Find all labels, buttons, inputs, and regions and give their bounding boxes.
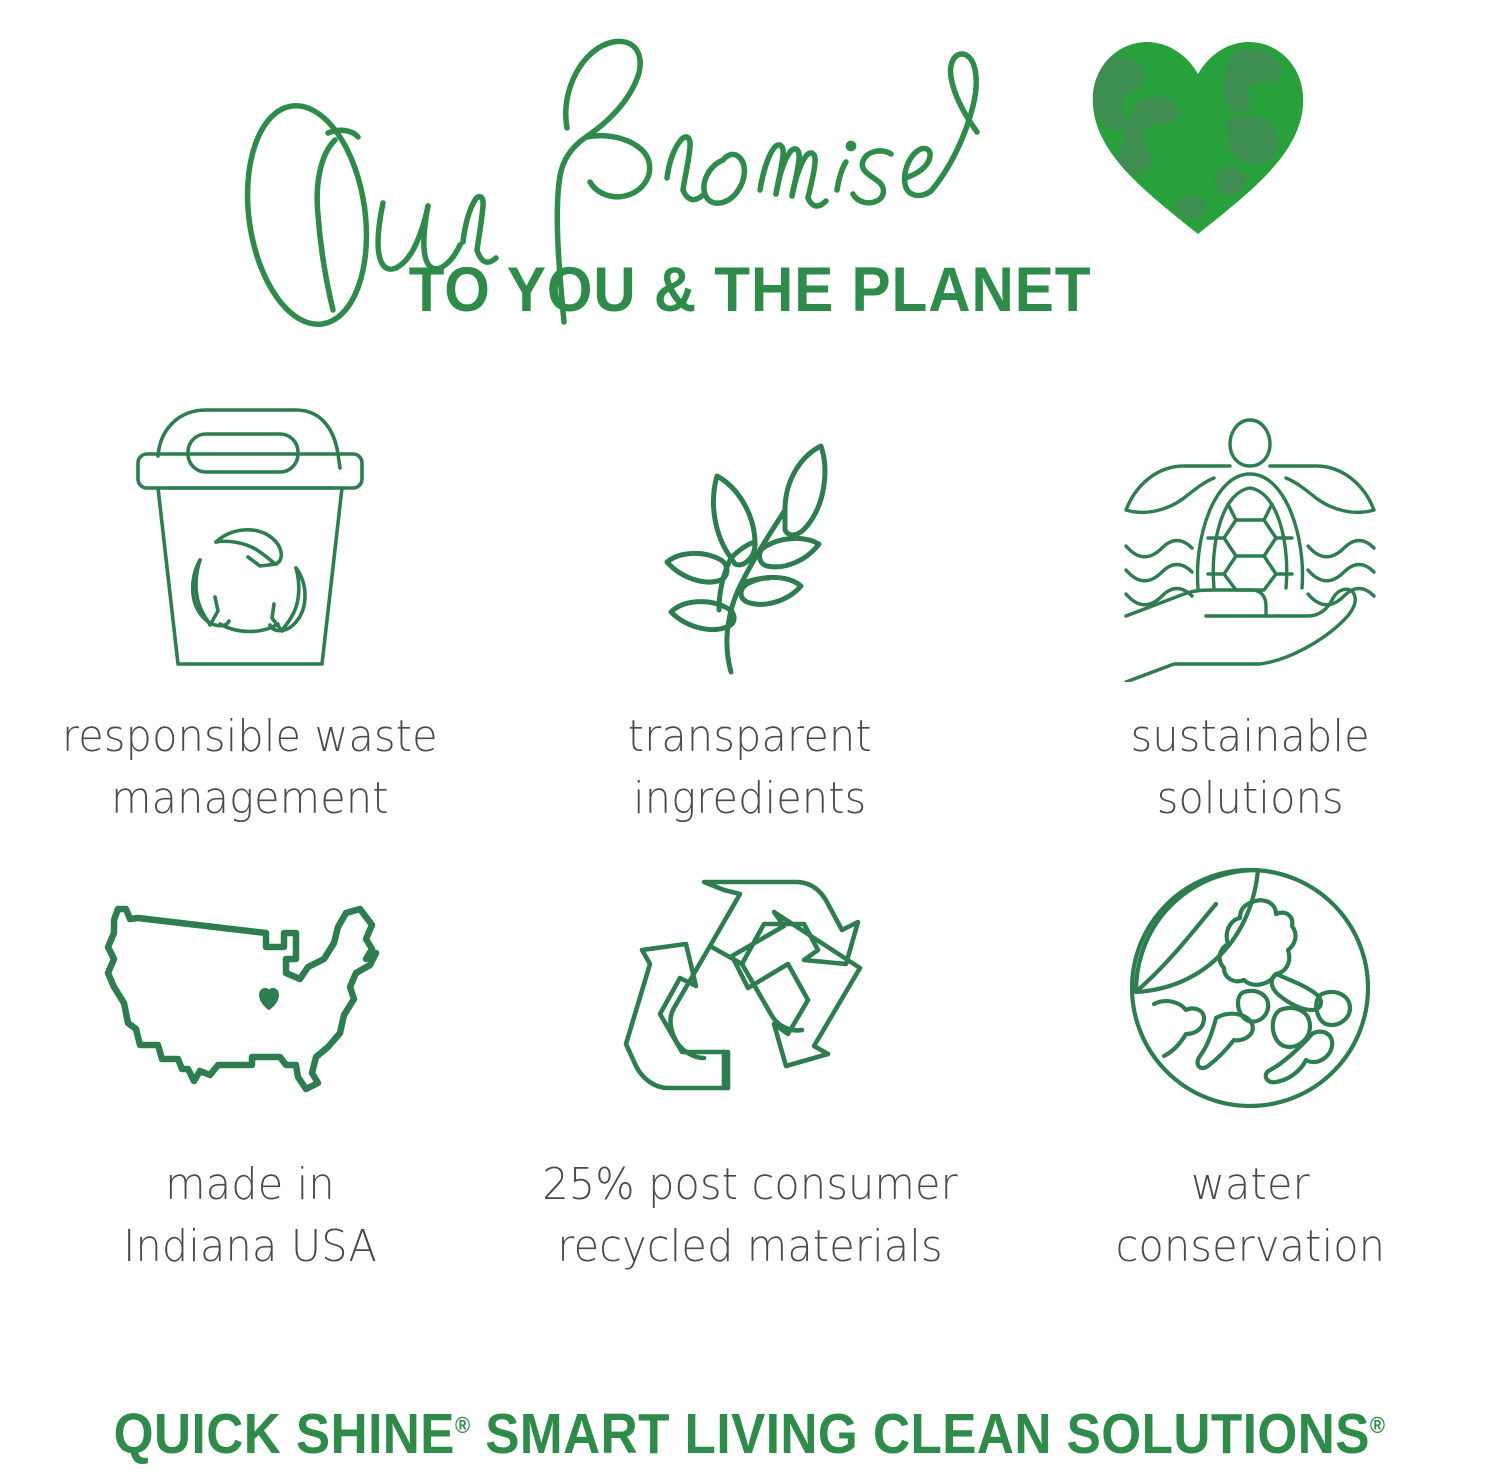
caption-line: responsible waste [62, 706, 438, 768]
caption-line: made in [123, 1154, 377, 1216]
brand-name-part-2: SMART LIVING CLEAN SOLUTIONS [471, 1402, 1370, 1466]
caption-line: conservation [1115, 1216, 1385, 1278]
promise-caption: sustainable solutions [1130, 706, 1369, 830]
header: TO YOU & THE PLANET [0, 0, 1500, 360]
promise-grid: responsible waste management [0, 382, 1500, 1278]
promise-item-sustainable-solutions: sustainable solutions [1000, 382, 1500, 838]
promise-item-water-conservation: water conservation [1000, 838, 1500, 1278]
leaf-sprig-icon [635, 382, 865, 682]
promise-item-recycled-materials: 25% post consumer recycled materials [500, 838, 1000, 1278]
promise-infographic: TO YOU & THE PLANET [0, 0, 1500, 1474]
promise-caption: transparent ingredients [628, 706, 872, 830]
usa-map-heart-icon [100, 838, 400, 1118]
promise-caption: water conservation [1115, 1154, 1385, 1278]
caption-line: management [62, 768, 438, 830]
footer-brand-text: QUICK SHINE® SMART LIVING CLEAN SOLUTION… [114, 1404, 1386, 1464]
caption-line: solutions [1130, 768, 1369, 830]
registered-mark-icon: ® [455, 1412, 471, 1438]
caption-line: recycled materials [542, 1216, 958, 1278]
promise-caption: 25% post consumer recycled materials [542, 1154, 958, 1278]
promise-row-2: made in Indiana USA [0, 838, 1500, 1278]
footer-brand-banner: QUICK SHINE® SMART LIVING CLEAN SOLUTION… [0, 1404, 1500, 1464]
caption-line: sustainable [1130, 706, 1369, 768]
caption-line: ingredients [628, 768, 872, 830]
caption-line: water [1115, 1154, 1385, 1216]
caption-line: transparent [628, 706, 872, 768]
promise-caption: made in Indiana USA [123, 1154, 377, 1278]
recycle-symbol-icon [620, 838, 880, 1118]
caption-line: Indiana USA [123, 1216, 377, 1278]
promise-row-1: responsible waste management [0, 382, 1500, 838]
globe-leaf-icon [1120, 838, 1380, 1118]
earth-heart-icon [1083, 22, 1313, 252]
promise-item-responsible-waste-management: responsible waste management [0, 382, 500, 838]
turtle-in-hand-icon [1110, 382, 1390, 682]
promise-caption: responsible waste management [62, 706, 438, 830]
caption-line: 25% post consumer [542, 1154, 958, 1216]
brand-name-part-1: QUICK SHINE [114, 1402, 455, 1466]
registered-mark-icon: ® [1370, 1412, 1386, 1438]
promise-item-transparent-ingredients: transparent ingredients [500, 382, 1000, 838]
subheading: TO YOU & THE PLANET [53, 255, 1448, 325]
trash-bin-recycle-icon [120, 382, 380, 682]
promise-item-made-in-indiana-usa: made in Indiana USA [0, 838, 500, 1278]
